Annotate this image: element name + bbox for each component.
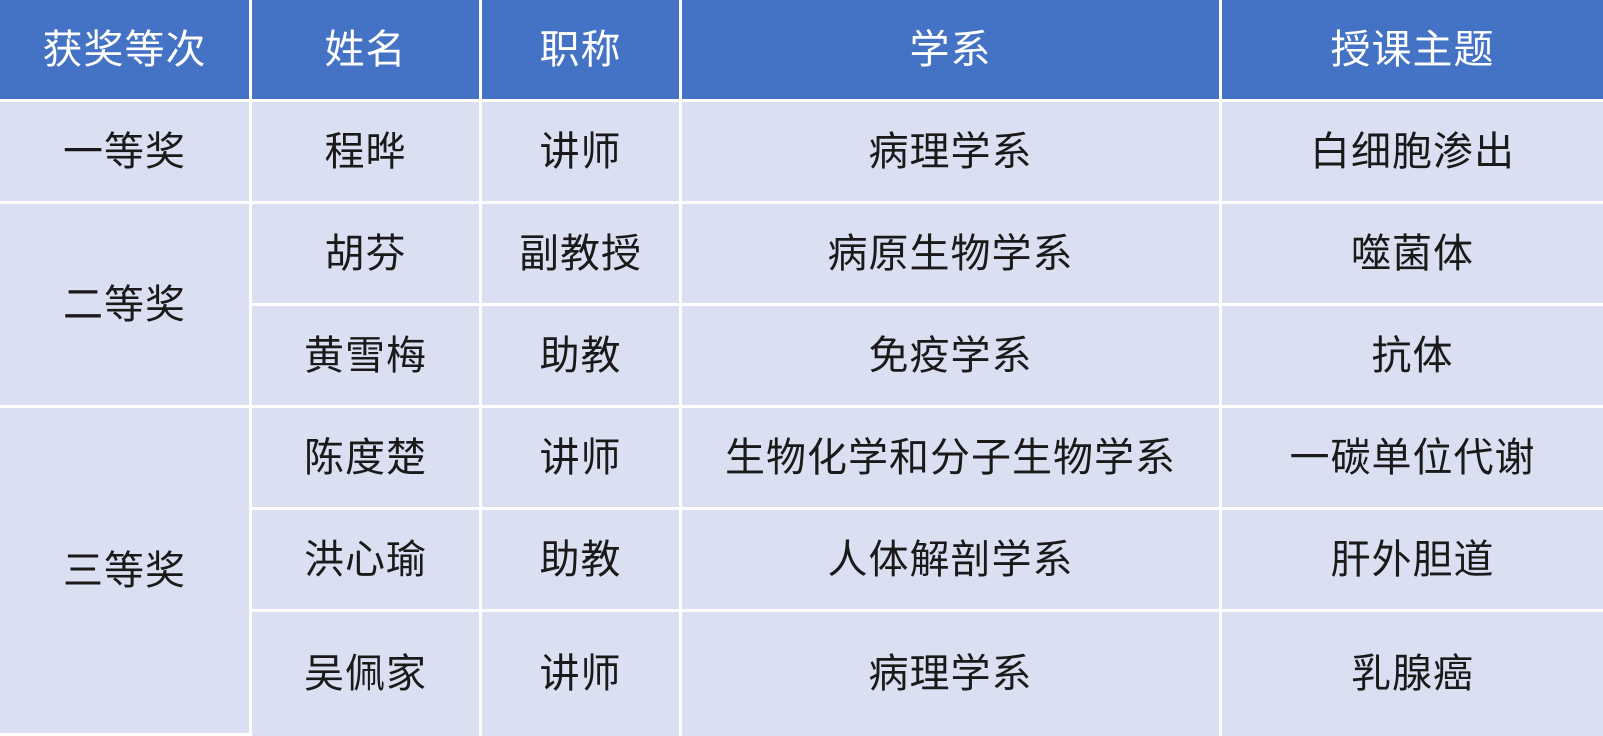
cell-name: 胡芬 (252, 204, 482, 306)
cell-award-rank: 三等奖 (0, 408, 252, 736)
table-row: 一等奖程晔讲师病理学系白细胞渗出 (0, 102, 1603, 204)
cell-award-rank: 二等奖 (0, 204, 252, 408)
cell-lecture-topic: 抗体 (1222, 306, 1603, 408)
cell-job-title: 讲师 (482, 612, 682, 736)
cell-lecture-topic: 肝外胆道 (1222, 510, 1603, 612)
cell-department: 免疫学系 (682, 306, 1222, 408)
table-body: 一等奖程晔讲师病理学系白细胞渗出二等奖胡芬副教授病原生物学系噬菌体黄雪梅助教免疫… (0, 102, 1603, 736)
cell-job-title: 讲师 (482, 408, 682, 510)
column-header-topic: 授课主题 (1222, 0, 1603, 102)
cell-name: 洪心瑜 (252, 510, 482, 612)
cell-department: 生物化学和分子生物学系 (682, 408, 1222, 510)
cell-award-rank: 一等奖 (0, 102, 252, 204)
cell-job-title: 讲师 (482, 102, 682, 204)
column-header-title: 职称 (482, 0, 682, 102)
cell-name: 陈度楚 (252, 408, 482, 510)
column-header-dept: 学系 (682, 0, 1222, 102)
header-row: 获奖等次 姓名 职称 学系 授课主题 (0, 0, 1603, 102)
cell-department: 病理学系 (682, 612, 1222, 736)
table-row: 二等奖胡芬副教授病原生物学系噬菌体 (0, 204, 1603, 306)
cell-lecture-topic: 一碳单位代谢 (1222, 408, 1603, 510)
cell-name: 黄雪梅 (252, 306, 482, 408)
cell-department: 人体解剖学系 (682, 510, 1222, 612)
cell-department: 病理学系 (682, 102, 1222, 204)
cell-name: 吴佩家 (252, 612, 482, 736)
table-header: 获奖等次 姓名 职称 学系 授课主题 (0, 0, 1603, 102)
cell-job-title: 副教授 (482, 204, 682, 306)
cell-name: 程晔 (252, 102, 482, 204)
cell-department: 病原生物学系 (682, 204, 1222, 306)
cell-lecture-topic: 乳腺癌 (1222, 612, 1603, 736)
column-header-name: 姓名 (252, 0, 482, 102)
table-row: 三等奖陈度楚讲师生物化学和分子生物学系一碳单位代谢 (0, 408, 1603, 510)
cell-lecture-topic: 噬菌体 (1222, 204, 1603, 306)
column-header-rank: 获奖等次 (0, 0, 252, 102)
cell-job-title: 助教 (482, 510, 682, 612)
cell-job-title: 助教 (482, 306, 682, 408)
cell-lecture-topic: 白细胞渗出 (1222, 102, 1603, 204)
award-winners-table: 获奖等次 姓名 职称 学系 授课主题 一等奖程晔讲师病理学系白细胞渗出二等奖胡芬… (0, 0, 1603, 736)
